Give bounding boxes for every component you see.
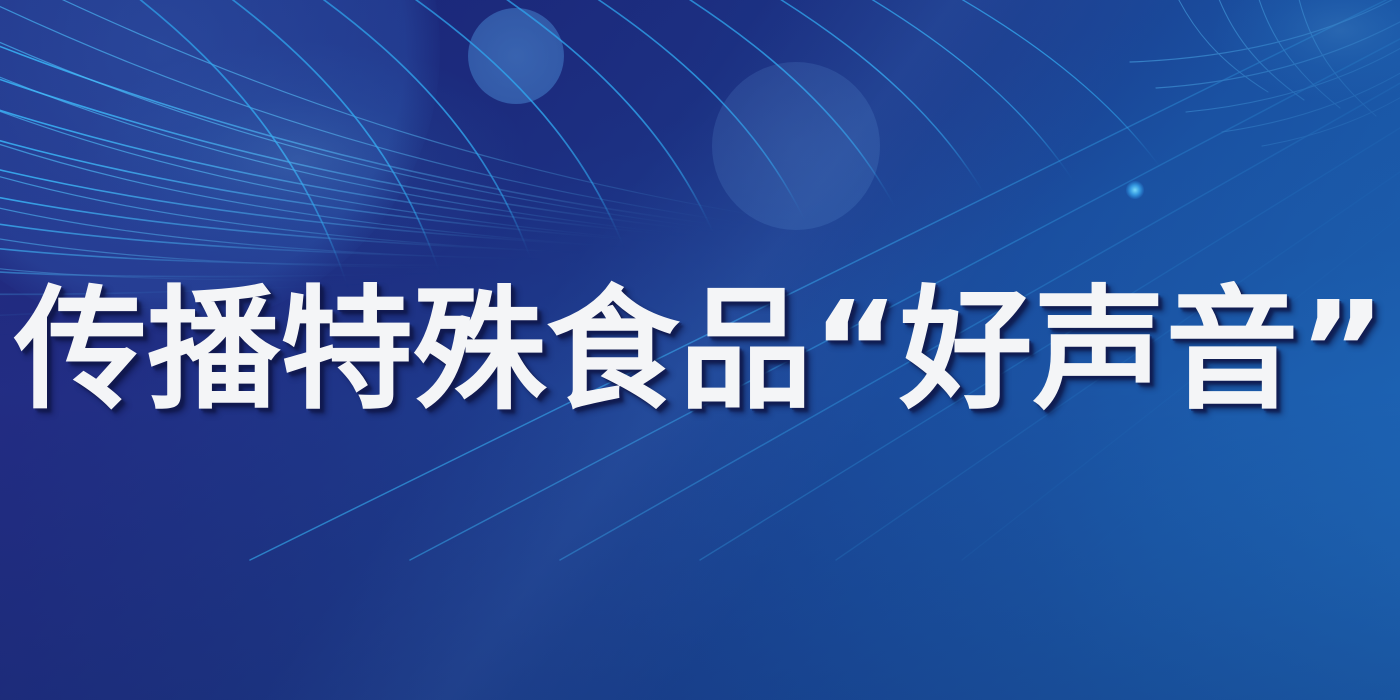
banner-root: 传播特殊食品“好声音” <box>0 0 1400 700</box>
headline-container: 传播特殊食品“好声音” <box>0 281 1400 421</box>
page-title: 传播特殊食品“好声音” <box>14 285 1386 418</box>
